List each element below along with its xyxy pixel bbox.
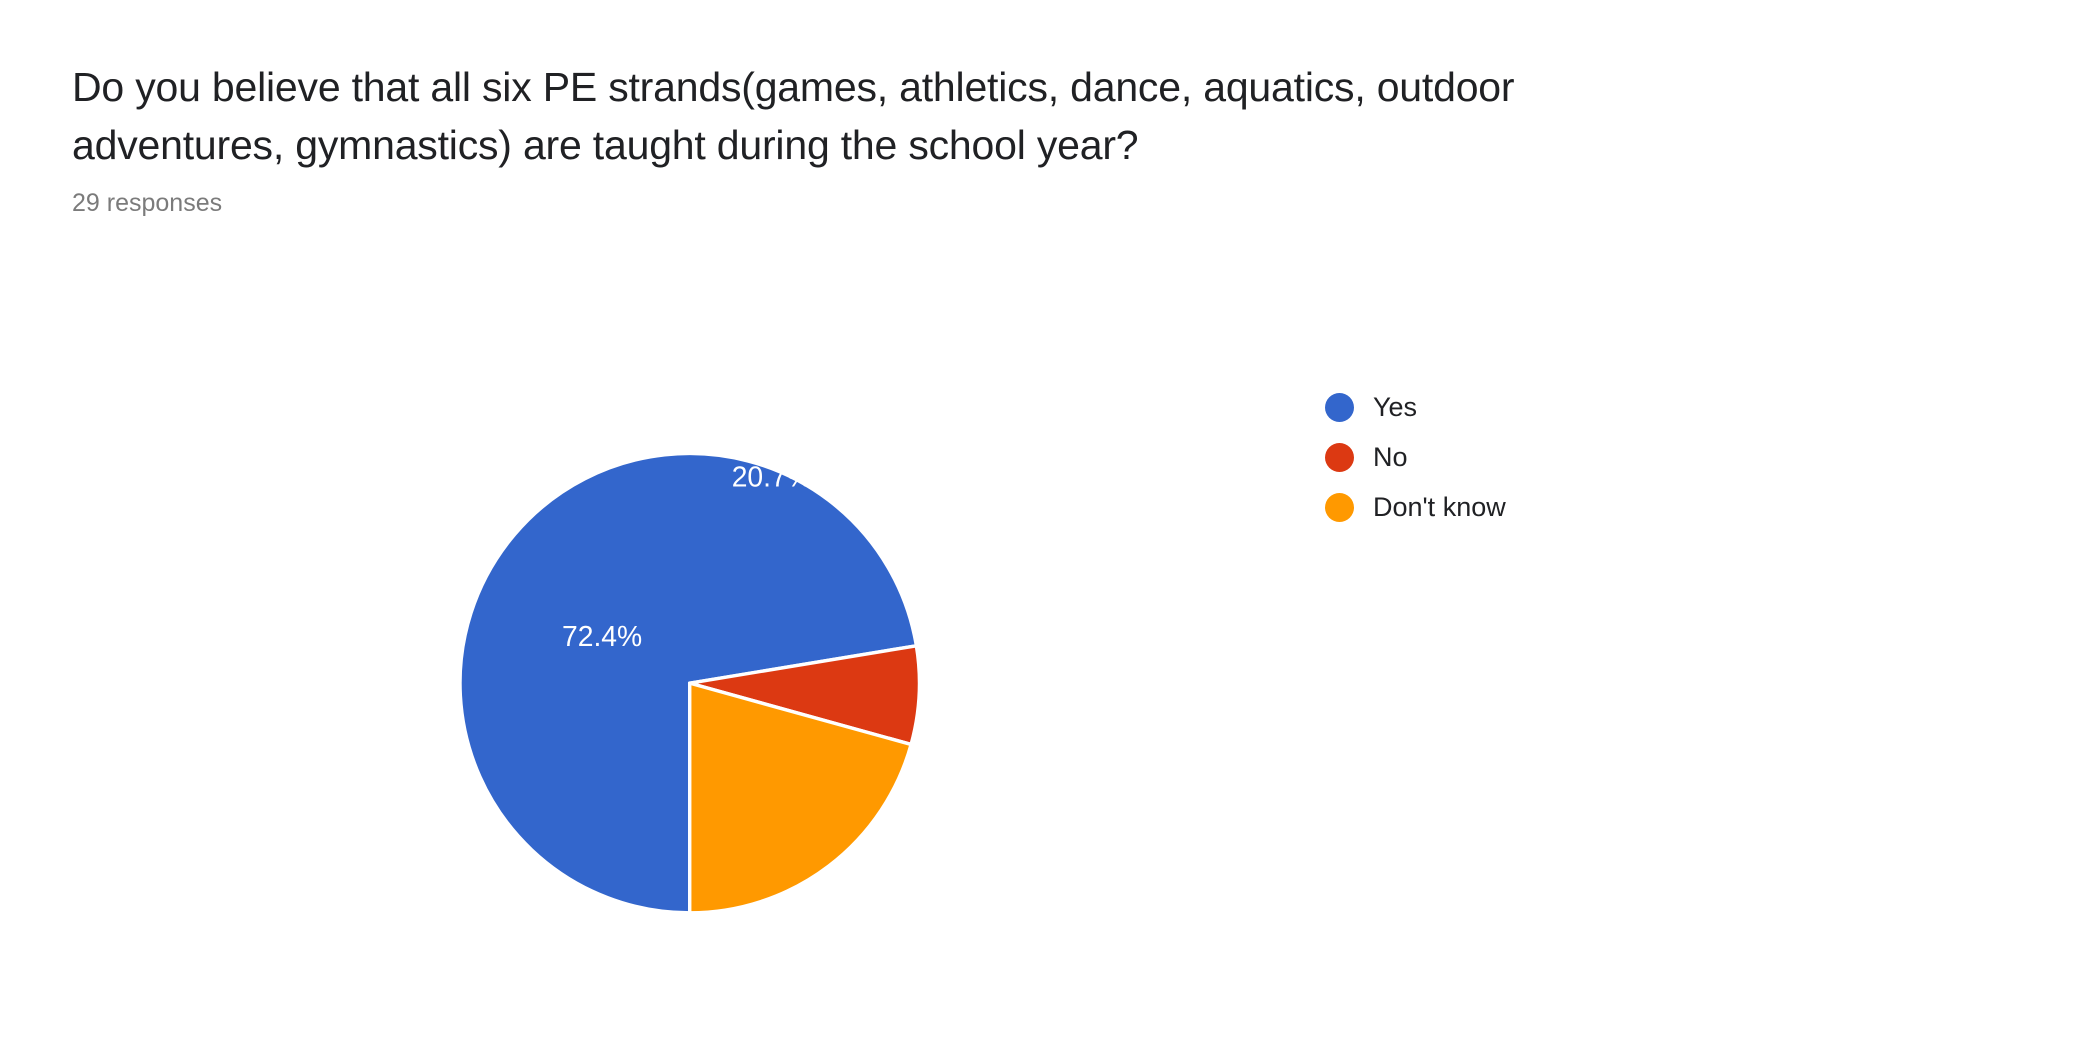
chart-header: Do you believe that all six PE strands(g… xyxy=(72,58,1792,218)
pie-chart-svg: 72.4%20.7% xyxy=(400,390,1000,990)
response-count-label: 29 responses xyxy=(72,188,1792,218)
legend-label-yes: Yes xyxy=(1373,392,1417,422)
legend-swatch-yes-icon xyxy=(1325,393,1354,422)
legend-item-no[interactable]: No xyxy=(1325,442,1506,472)
legend-item-dont-know[interactable]: Don't know xyxy=(1325,492,1506,522)
pie-slice-label-yes: 72.4% xyxy=(562,620,642,652)
legend-item-yes[interactable]: Yes xyxy=(1325,392,1506,422)
page-title: Do you believe that all six PE strands(g… xyxy=(72,58,1722,174)
pie-chart: 72.4%20.7% xyxy=(400,390,1000,990)
chart-legend: Yes No Don't know xyxy=(1325,392,1506,522)
legend-swatch-dont-know-icon xyxy=(1325,493,1354,522)
legend-swatch-no-icon xyxy=(1325,443,1354,472)
legend-label-dont-know: Don't know xyxy=(1373,492,1506,522)
form-response-chart-card: Do you believe that all six PE strands(g… xyxy=(0,0,2088,1044)
pie-slices-group xyxy=(460,453,919,912)
legend-label-no: No xyxy=(1373,442,1408,472)
pie-slice-label-dont-know: 20.7% xyxy=(732,461,812,493)
chart-area: 72.4%20.7% Yes No Don't know xyxy=(0,330,2088,1030)
